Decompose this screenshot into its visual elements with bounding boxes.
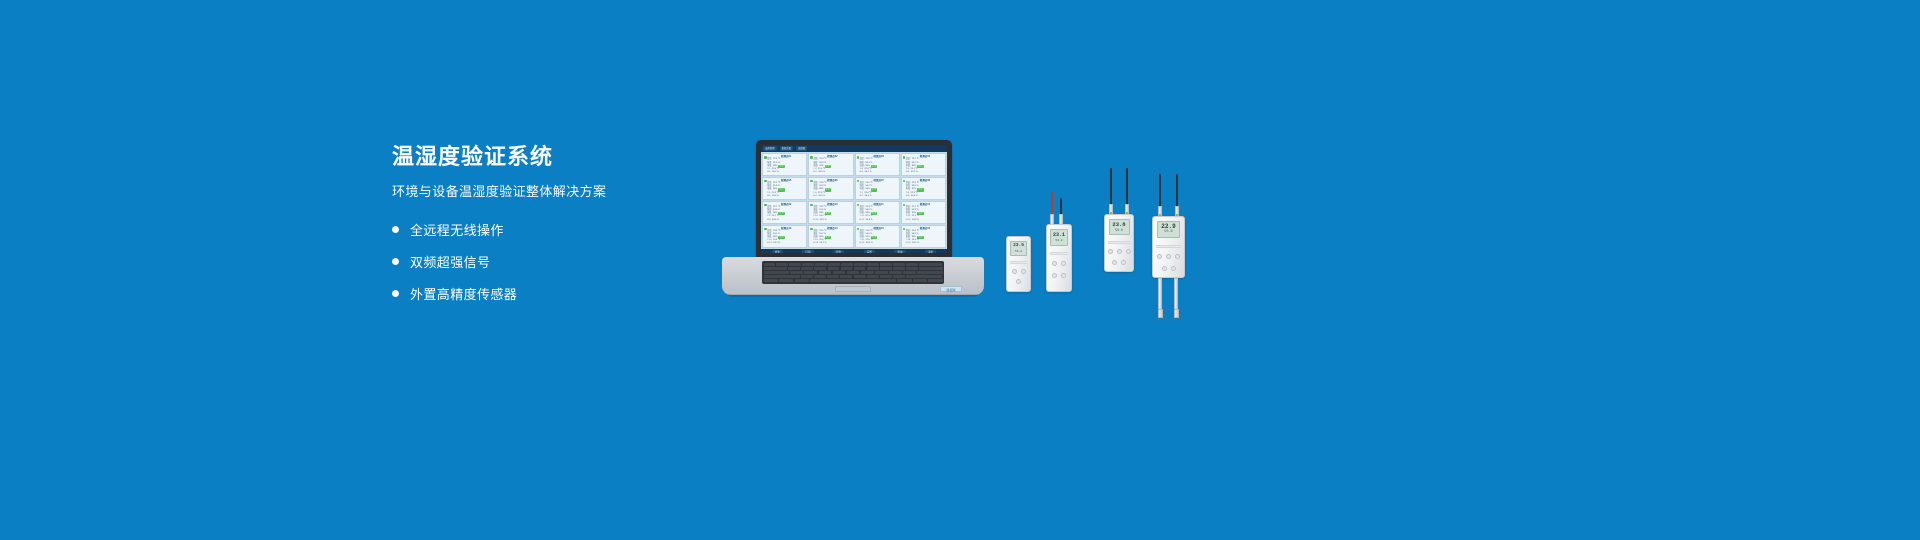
sensor-card[interactable]: 检测点10温度:23.2 ℃湿度:55.5 %电量:93%正常T-10:23.2… <box>808 201 853 224</box>
software-bottom-bar: 更新 打印 导出 设置 查询 退出 <box>761 249 947 254</box>
key[interactable] <box>764 279 778 282</box>
list-item: 外置高精度传感器 <box>392 284 722 303</box>
device-body: 23.8 56.0 <box>1104 214 1134 272</box>
bullet-dot-icon <box>392 258 399 265</box>
sensor-card[interactable]: 检测点05温度:22.2 ℃湿度:55.9 %电量:95%正常T-5:22.2 … <box>762 177 807 200</box>
sensor-card-key: H-4: <box>906 171 910 174</box>
device-display: 23.8 56.0 <box>1109 219 1130 235</box>
sensor-card-row: H-11:56.8 % <box>860 219 898 222</box>
sensor-card-value: 54.8 % <box>818 171 825 174</box>
sensor-card-row: H-3:56.1 % <box>860 171 898 174</box>
key[interactable] <box>889 271 902 274</box>
device-button[interactable] <box>1052 261 1057 266</box>
device-body: 23.1 54.8 <box>1046 224 1072 292</box>
toolbar-button[interactable]: 设备管理 <box>763 146 777 151</box>
sensor-card[interactable]: 检测点03温度:22.8 ℃湿度:56.1 %电量:96%正常T-3:22.8 … <box>855 153 900 176</box>
device-button[interactable] <box>1157 254 1162 259</box>
device-button[interactable] <box>1012 269 1017 274</box>
laptop-shadow <box>728 294 978 297</box>
temperature-reading: 23.8 <box>1112 222 1125 228</box>
list-item: 双频超强信号 <box>392 252 722 271</box>
key-row <box>764 267 943 270</box>
key[interactable] <box>828 267 840 270</box>
key[interactable] <box>814 267 826 270</box>
key[interactable] <box>906 267 918 270</box>
toolbar-button[interactable]: 曲线图 <box>796 146 807 151</box>
key[interactable] <box>764 263 776 266</box>
sensor-card-key: H-11: <box>860 219 865 222</box>
sensor-card-key: H-9: <box>767 219 771 222</box>
device-button[interactable] <box>1052 273 1057 278</box>
sensor-card-value: 54.5 % <box>912 242 919 245</box>
sensor-card-key: H-14: <box>813 242 818 245</box>
device-label-strip <box>1108 241 1130 244</box>
external-sensor-probe <box>1174 278 1178 310</box>
list-item: 全远程无线操作 <box>392 220 722 239</box>
key[interactable] <box>854 263 866 266</box>
sensor-card-row: H-16:54.5 % <box>906 242 944 245</box>
laptop-keyboard[interactable] <box>762 261 944 284</box>
key[interactable] <box>804 271 817 274</box>
device-buttons <box>1047 261 1071 266</box>
sensor-card-value: 53.7 % <box>911 171 918 174</box>
bottom-button[interactable]: 更新 <box>772 250 783 254</box>
sensor-card[interactable]: 检测点06温度:22.9 ℃湿度:54.3 %电量:98%正常T-6:22.9 … <box>808 177 853 200</box>
sensor-card-row: H-15:56.0 % <box>860 242 898 245</box>
feature-label: 双频超强信号 <box>410 252 490 271</box>
probe-cable-red <box>1051 192 1053 216</box>
sensor-card-key: H-12: <box>906 219 911 222</box>
temperature-reading: 23.5 <box>1013 244 1024 249</box>
key[interactable] <box>789 263 801 266</box>
humidity-reading: 56.0 <box>1115 229 1123 232</box>
laptop-sticker: 验证版 <box>940 286 962 292</box>
status-indicator-icon <box>764 228 767 231</box>
humidity-reading: 54.8 <box>1055 239 1062 242</box>
sensor-card-key: H-1: <box>767 171 771 174</box>
status-indicator-icon <box>810 156 813 159</box>
probe-tip <box>1158 309 1163 318</box>
humidity-reading: 55.6 <box>1164 231 1172 234</box>
key[interactable] <box>795 279 809 282</box>
bottom-button[interactable]: 退出 <box>925 250 936 254</box>
key[interactable] <box>790 271 803 274</box>
sensor-card-value: 56.4 % <box>865 195 872 198</box>
sensor-card-row: H-10:55.5 % <box>813 219 851 222</box>
spacebar-key[interactable] <box>810 279 896 282</box>
sensor-card-grid: 检测点01温度:22.6 ℃湿度:55.2 %电量:98%正常T-1:22.6 … <box>761 152 947 249</box>
sensor-card-key: H-10: <box>813 219 818 222</box>
key[interactable] <box>880 267 892 270</box>
device-label-strip <box>1010 261 1027 264</box>
key[interactable] <box>919 263 943 266</box>
device-button[interactable] <box>1108 249 1113 254</box>
key[interactable] <box>928 279 942 282</box>
device-display: 23.5 55.2 <box>1010 241 1027 256</box>
key[interactable] <box>903 271 916 274</box>
laptop-touchpad[interactable] <box>835 286 871 292</box>
device-buttons <box>1105 260 1133 265</box>
key[interactable] <box>867 267 879 270</box>
sensor-card-row: H-6:54.3 % <box>813 195 851 198</box>
probe-tip <box>1174 309 1179 318</box>
bottom-button[interactable]: 设置 <box>864 250 875 254</box>
sensor-card-key: H-3: <box>860 171 864 174</box>
sensor-card-row: H-4:53.7 % <box>906 171 944 174</box>
key-row <box>764 279 943 282</box>
device-button[interactable] <box>1162 266 1167 271</box>
status-indicator-icon <box>903 156 906 159</box>
key[interactable] <box>919 267 943 270</box>
sensor-card-row: H-13:54.1 % <box>767 242 805 245</box>
sensor-card[interactable]: 检测点14温度:22.0 ℃湿度:55.7 %电量:92%正常T-14:22.0… <box>808 225 853 248</box>
key[interactable] <box>893 275 905 278</box>
sensor-card[interactable]: 检测点15温度:22.6 ℃湿度:56.0 %电量:97%正常T-15:22.6… <box>855 225 900 248</box>
sensor-card-key: H-7: <box>860 195 864 198</box>
sensor-card[interactable]: 检测点02温度:22.4 ℃湿度:54.8 %电量:97%正常T-2:22.4 … <box>808 153 853 176</box>
key[interactable] <box>801 275 813 278</box>
device-buttons <box>1007 269 1030 274</box>
device-button[interactable] <box>1021 269 1026 274</box>
sensor-card[interactable]: 检测点09温度:22.7 ℃湿度:54.6 %电量:96%正常T-9:22.7 … <box>762 201 807 224</box>
device-label-strip <box>1156 245 1181 248</box>
key[interactable] <box>828 263 840 266</box>
key[interactable] <box>861 271 874 274</box>
sensor-card-row: H-1:55.2 % <box>767 171 805 174</box>
bullet-dot-icon <box>392 290 399 297</box>
bottom-button[interactable]: 导出 <box>833 250 844 254</box>
key[interactable] <box>917 271 943 274</box>
status-indicator-icon <box>764 204 767 207</box>
status-indicator-icon <box>810 204 813 207</box>
antenna-rod <box>1110 168 1112 206</box>
sensor-card-value: 54.1 % <box>773 242 780 245</box>
page-subtitle: 环境与设备温湿度验证整体解决方案 <box>392 183 722 201</box>
key-row <box>764 263 943 266</box>
sensor-card-value: 56.0 % <box>866 242 873 245</box>
key[interactable] <box>788 267 800 270</box>
sensor-card-key: H-2: <box>813 171 817 174</box>
antenna-rod <box>1126 168 1128 206</box>
key[interactable] <box>875 271 888 274</box>
device-buttons <box>1153 254 1184 259</box>
key[interactable] <box>880 263 892 266</box>
status-badge: 正常 <box>825 165 831 168</box>
key[interactable] <box>906 275 942 278</box>
status-badge: 正常 <box>778 212 784 215</box>
sensor-card-value: 55.9 % <box>772 195 779 198</box>
laptop-product-image: 设备管理 数据采集 曲线图 检测点01温度:22.6 ℃湿度:55.2 %电量:… <box>722 140 984 295</box>
sensor-card-row: H-9:54.6 % <box>767 219 805 222</box>
device-buttons <box>1047 273 1071 278</box>
device-button[interactable] <box>1166 254 1171 259</box>
key-row <box>764 271 943 274</box>
device-body: 22.9 55.6 <box>1152 216 1185 278</box>
sensor-card[interactable]: 检测点08温度:22.5 ℃湿度:55.0 %电量:97%正常T-8:22.5 … <box>901 177 946 200</box>
status-badge: 正常 <box>778 188 784 191</box>
key[interactable] <box>854 267 866 270</box>
antenna-rod <box>1159 174 1161 208</box>
status-badge: 正常 <box>778 165 784 168</box>
sensor-card-row: H-12:53.9 % <box>906 219 944 222</box>
device-body: 23.5 55.2 <box>1006 236 1031 292</box>
key[interactable] <box>913 279 927 282</box>
key[interactable] <box>893 263 905 266</box>
key[interactable] <box>819 271 832 274</box>
page-title: 温湿度验证系统 <box>392 143 722 171</box>
sensor-card-value: 54.3 % <box>818 195 825 198</box>
key[interactable] <box>815 263 827 266</box>
key[interactable] <box>764 275 800 278</box>
banner-copy: 温湿度验证系统 环境与设备温湿度验证整体解决方案 全远程无线操作 双频超强信号 … <box>392 143 722 316</box>
device-label-strip <box>1050 252 1068 255</box>
device-button[interactable] <box>1171 266 1176 271</box>
sensor-card-row: H-8:55.0 % <box>906 195 944 198</box>
key[interactable] <box>764 267 788 270</box>
temperature-reading: 23.1 <box>1053 233 1065 238</box>
sensor-card[interactable]: 检测点11温度:22.3 ℃湿度:56.8 %电量:99%正常T-11:22.3… <box>855 201 900 224</box>
status-indicator-icon <box>764 156 767 159</box>
feature-label: 全远程无线操作 <box>410 220 504 239</box>
key[interactable] <box>764 271 790 274</box>
sensor-card-row: H-14:55.7 % <box>813 242 851 245</box>
key[interactable] <box>854 275 866 278</box>
feature-label: 外置高精度传感器 <box>410 284 517 303</box>
sensor-card-value: 55.7 % <box>820 242 827 245</box>
sensor-card-value: 54.6 % <box>772 219 779 222</box>
key[interactable] <box>814 275 826 278</box>
sensor-card-value: 53.9 % <box>912 219 919 222</box>
product-banner: 温湿度验证系统 环境与设备温湿度验证整体解决方案 全远程无线操作 双频超强信号 … <box>0 0 1920 540</box>
sensor-card-value: 56.1 % <box>865 171 872 174</box>
status-indicator-icon <box>857 228 860 231</box>
sensor-card-key: H-13: <box>767 242 772 245</box>
sensor-card-row: H-7:56.4 % <box>860 195 898 198</box>
key[interactable] <box>847 271 860 274</box>
status-indicator-icon <box>810 228 813 231</box>
key-row <box>764 275 943 278</box>
key[interactable] <box>827 275 839 278</box>
key[interactable] <box>779 279 793 282</box>
sensor-card-key: H-5: <box>767 195 771 198</box>
sensor-card[interactable]: 检测点13温度:23.3 ℃湿度:54.1 %电量:98%正常T-13:23.3… <box>762 225 807 248</box>
software-toolbar: 设备管理 数据采集 曲线图 <box>761 145 947 152</box>
feature-list: 全远程无线操作 双频超强信号 外置高精度传感器 <box>392 220 722 303</box>
key[interactable] <box>867 275 879 278</box>
device-logger-b: 23.1 54.8 <box>1046 224 1072 292</box>
key[interactable] <box>802 263 814 266</box>
key[interactable] <box>867 263 879 266</box>
device-button[interactable] <box>1061 261 1066 266</box>
sensor-card[interactable]: 检测点01温度:22.6 ℃湿度:55.2 %电量:98%正常T-1:22.6 … <box>762 153 807 176</box>
key[interactable] <box>906 263 918 266</box>
status-badge: 正常 <box>825 188 831 191</box>
sensor-card-key: H-16: <box>906 242 911 245</box>
device-display: 23.1 54.8 <box>1050 229 1068 246</box>
sensor-card-key: H-15: <box>860 242 865 245</box>
bottom-button[interactable]: 打印 <box>802 250 813 254</box>
bullet-dot-icon <box>392 226 399 233</box>
key[interactable] <box>880 275 892 278</box>
device-buttons <box>1007 279 1030 284</box>
key[interactable] <box>841 263 853 266</box>
device-button[interactable] <box>1061 273 1066 278</box>
laptop-lid: 设备管理 数据采集 曲线图 检测点01温度:22.6 ℃湿度:55.2 %电量:… <box>756 140 952 262</box>
sensor-card[interactable]: 检测点12温度:22.1 ℃湿度:53.9 %电量:95%正常T-12:22.1… <box>901 201 946 224</box>
sensor-card-key: H-8: <box>906 195 910 198</box>
sensor-card[interactable]: 检测点04温度:23.1 ℃湿度:53.7 %电量:99%正常T-4:23.1 … <box>901 153 946 176</box>
device-button[interactable] <box>1117 249 1122 254</box>
humidity-reading: 55.2 <box>1015 250 1022 253</box>
status-badge: 正常 <box>917 165 923 168</box>
antenna-rod <box>1176 174 1178 208</box>
sensor-card-value: 55.0 % <box>911 195 918 198</box>
device-validator-c: 23.8 56.0 <box>1104 214 1134 272</box>
device-button[interactable] <box>1175 254 1180 259</box>
device-button[interactable] <box>1112 260 1117 265</box>
sensor-card-row: H-5:55.9 % <box>767 195 805 198</box>
device-validator-d: 22.9 55.6 <box>1152 216 1185 320</box>
key[interactable] <box>897 279 911 282</box>
device-buttons <box>1153 266 1184 271</box>
device-button[interactable] <box>1121 260 1126 265</box>
sensor-card-row: H-2:54.8 % <box>813 171 851 174</box>
sensor-card-value: 55.5 % <box>820 219 827 222</box>
device-button[interactable] <box>1126 249 1131 254</box>
status-indicator-icon <box>857 156 860 159</box>
device-display: 22.9 55.6 <box>1157 221 1180 238</box>
sensor-card[interactable]: 检测点07温度:23.0 ℃湿度:56.4 %电量:94%正常T-7:23.0 … <box>855 177 900 200</box>
device-logger-a: 23.5 55.2 <box>1006 236 1031 292</box>
key[interactable] <box>833 271 846 274</box>
device-buttons <box>1105 249 1133 254</box>
sensor-card-key: H-6: <box>813 195 817 198</box>
laptop-screen: 设备管理 数据采集 曲线图 检测点01温度:22.6 ℃湿度:55.2 %电量:… <box>761 145 947 253</box>
status-badge: 正常 <box>917 188 923 191</box>
bottom-button[interactable]: 查询 <box>894 250 905 254</box>
handheld-devices-group: 23.5 55.2 23.1 5 <box>1000 178 1230 320</box>
sensor-card-value: 56.8 % <box>866 219 873 222</box>
toolbar-button[interactable]: 数据采集 <box>780 146 794 151</box>
sensor-card[interactable]: 检测点16温度:23.4 ℃湿度:54.5 %电量:96%正常T-16:23.4… <box>901 225 946 248</box>
external-sensor-probe <box>1158 278 1162 310</box>
key[interactable] <box>841 267 853 270</box>
sensor-card-value: 55.2 % <box>772 171 779 174</box>
key[interactable] <box>776 263 788 266</box>
device-button[interactable] <box>1016 279 1021 284</box>
key[interactable] <box>801 267 813 270</box>
laptop-base: 验证版 <box>722 257 984 295</box>
key[interactable] <box>840 275 852 278</box>
key[interactable] <box>893 267 905 270</box>
